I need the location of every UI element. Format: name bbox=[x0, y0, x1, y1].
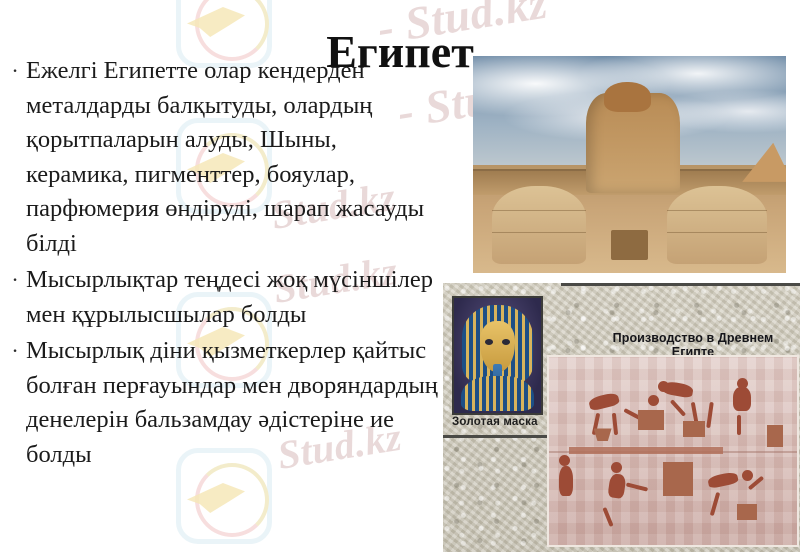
tutankhamun-mask-photo bbox=[452, 296, 543, 415]
bullet-text: Ежелгі Египетте олар кендерден металдард… bbox=[26, 54, 440, 261]
bullet-marker: · bbox=[4, 263, 26, 297]
egyptian-workers-fresco bbox=[547, 355, 799, 547]
stone-block bbox=[638, 410, 664, 430]
mud-brick-pile bbox=[663, 462, 693, 496]
mud-brick-ledge bbox=[569, 447, 723, 454]
divider bbox=[561, 283, 800, 286]
presentation-slide: - Stud.kz - Stud.kz Stud.kz Stud.kz Stud… bbox=[0, 0, 800, 552]
worker-figure bbox=[559, 466, 573, 496]
bullet-text: Мысырлықтар теңдесі жоқ мүсіншілер мен қ… bbox=[26, 263, 440, 332]
worker-head bbox=[559, 455, 570, 466]
mask-collar bbox=[461, 376, 534, 411]
mask-caption: Золотая маска bbox=[452, 416, 562, 428]
divider bbox=[443, 435, 561, 438]
bullet-marker: · bbox=[4, 54, 26, 88]
list-item: · Мысырлықтар теңдесі жоқ мүсіншілер мен… bbox=[4, 263, 440, 332]
bullet-text: Мысырлық діни қызметкерлер қайтыс болған… bbox=[26, 334, 440, 472]
carrying-yoke bbox=[767, 425, 783, 447]
worker-figure bbox=[733, 387, 751, 411]
bullet-list: · Ежелгі Египетте олар кендерден металда… bbox=[4, 54, 440, 474]
list-item: · Мысырлық діни қызметкерлер қайтыс болғ… bbox=[4, 334, 440, 472]
mask-eye bbox=[502, 339, 510, 345]
stone-block bbox=[683, 421, 705, 437]
sphinx-right-paw bbox=[667, 186, 767, 264]
sphinx-head bbox=[604, 82, 651, 112]
worker-leg bbox=[737, 415, 741, 435]
worker-head bbox=[648, 395, 659, 406]
stone-plinth bbox=[611, 230, 649, 260]
list-item: · Ежелгі Египетте олар кендерден металда… bbox=[4, 54, 440, 261]
bullet-marker: · bbox=[4, 334, 26, 368]
ancient-egypt-composite-image: Золотая маска Производство в Древнем Еги… bbox=[443, 283, 800, 552]
stone-block bbox=[737, 504, 757, 520]
sphinx-left-paw bbox=[492, 186, 586, 264]
sphinx-photo bbox=[473, 56, 786, 273]
